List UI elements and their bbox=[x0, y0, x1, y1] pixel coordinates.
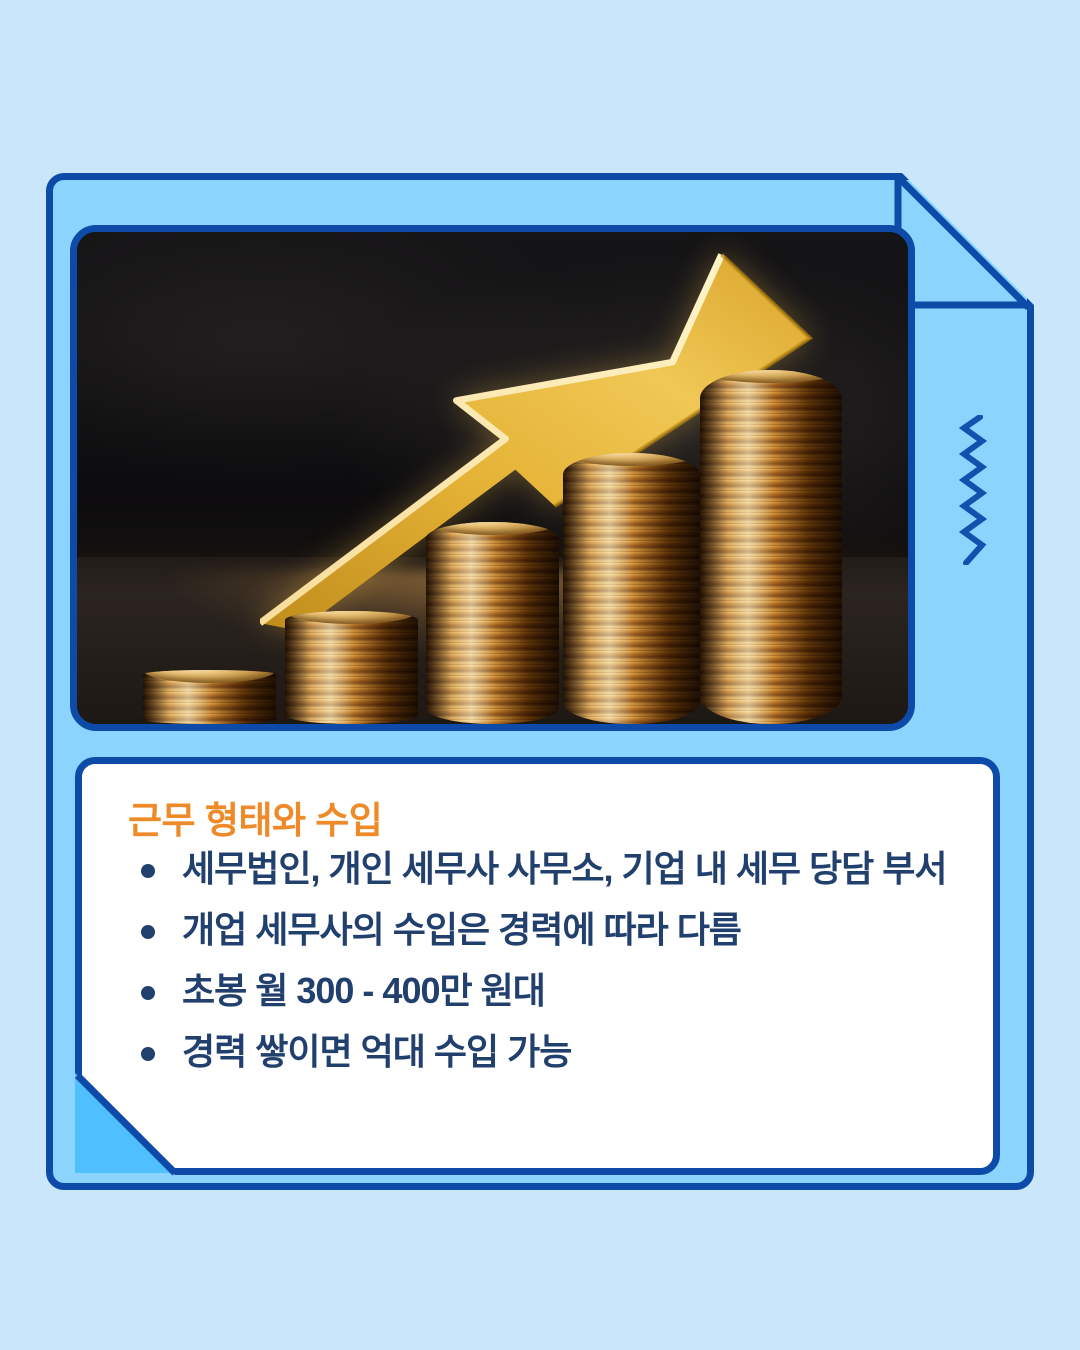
coin-stack-4 bbox=[563, 453, 700, 724]
coin-stack-sheen bbox=[700, 370, 841, 724]
content-text-block: 근무 형태와 수입 세무법인, 개인 세무사 사무소, 기업 내 세무 당담 부… bbox=[128, 800, 1008, 1095]
coin-stack-sheen bbox=[285, 611, 418, 724]
list-item-text: 초봉 월 300 - 400만 원대 bbox=[182, 973, 545, 1009]
list-item-text: 세무법인, 개인 세무사 사무소, 기업 내 세무 당담 부서 bbox=[182, 851, 947, 887]
bullet-dot-icon bbox=[141, 1047, 155, 1061]
coin-stack-3 bbox=[426, 522, 559, 724]
bullet-list: 세무법인, 개인 세무사 사무소, 기업 내 세무 당담 부서 개업 세무사의 … bbox=[128, 851, 1008, 1070]
section-title: 근무 형태와 수입 bbox=[128, 800, 1008, 843]
list-item: 초봉 월 300 - 400만 원대 bbox=[128, 973, 1008, 1009]
coin-stack-2 bbox=[285, 611, 418, 724]
bullet-dot-icon bbox=[141, 864, 155, 878]
bullet-dot-icon bbox=[141, 925, 155, 939]
coin-stack-5 bbox=[700, 370, 841, 724]
list-item: 경력 쌓이면 억대 수입 가능 bbox=[128, 1034, 1008, 1070]
list-item: 세무법인, 개인 세무사 사무소, 기업 내 세무 당담 부서 bbox=[128, 851, 1008, 887]
list-item-text: 개업 세무사의 수입은 경력에 따라 다름 bbox=[182, 912, 741, 948]
list-item-text: 경력 쌓이면 억대 수입 가능 bbox=[182, 1034, 571, 1070]
coin-stack-sheen bbox=[426, 522, 559, 724]
bullet-dot-icon bbox=[141, 986, 155, 1000]
zigzag-squiggle-icon bbox=[958, 415, 992, 565]
hero-photo bbox=[70, 225, 915, 731]
photo-scene bbox=[77, 232, 908, 724]
list-item: 개업 세무사의 수입은 경력에 따라 다름 bbox=[128, 912, 1008, 948]
coin-stack-sheen bbox=[563, 453, 700, 724]
coin-stack-1 bbox=[143, 670, 276, 724]
